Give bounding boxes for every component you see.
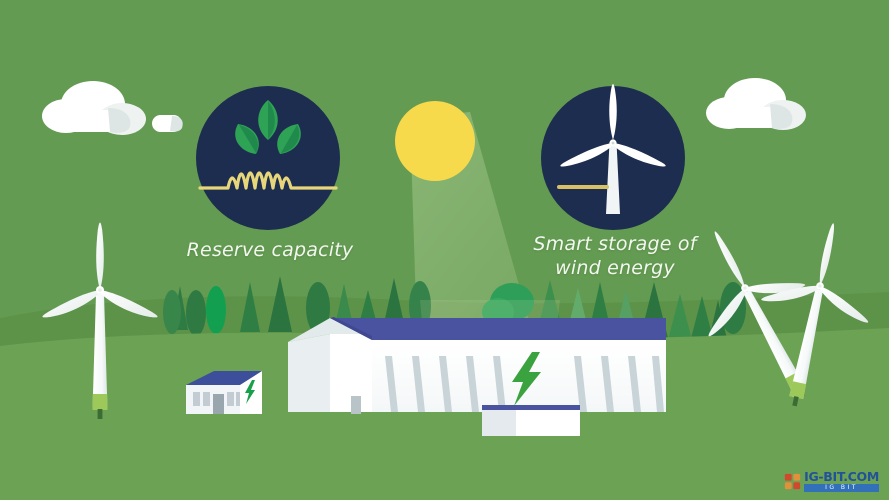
house-door (213, 394, 224, 414)
badge-label-reserve-capacity: Reserve capacity (175, 238, 365, 262)
scene-graphics (0, 0, 889, 500)
cloud-left-small (152, 115, 183, 132)
watermark-subtext: IG BIT (804, 484, 879, 492)
house-window (227, 392, 234, 406)
badge-label-smart-storage: Smart storage of wind energy (515, 232, 715, 281)
front-platform (482, 405, 580, 436)
house-window (193, 392, 200, 406)
base-line-icon (557, 185, 609, 189)
watermark-text: IG-BIT.COM (804, 471, 879, 484)
house-window (203, 392, 210, 406)
sun (395, 101, 475, 181)
watermark-logo-icon (784, 473, 801, 490)
facility-gable-wall (288, 334, 330, 412)
site-watermark: IG-BIT.COM IG BIT (784, 471, 879, 493)
facility-side-door (351, 396, 361, 414)
ground-front (0, 404, 889, 500)
badge-reserve-capacity[interactable] (196, 86, 340, 230)
illustration-canvas: Reserve capacity Smart storage of wind e… (0, 0, 889, 500)
house-window (236, 392, 240, 406)
facility-roof (330, 318, 666, 340)
